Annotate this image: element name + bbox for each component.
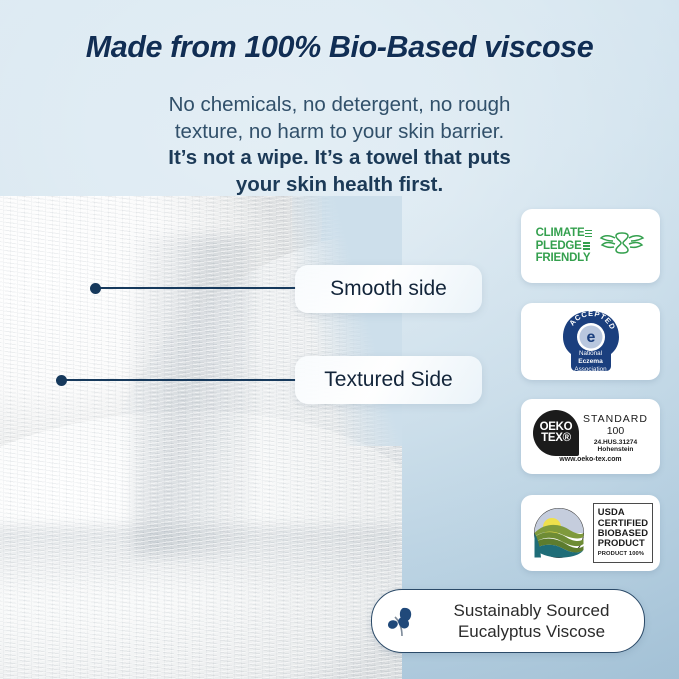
callout-textured-side-label: Textured Side — [324, 368, 452, 392]
towel-edge-fade — [292, 196, 402, 446]
eczema-line-1: National — [560, 350, 622, 358]
eucalyptus-callout: Sustainably Sourced Eucalyptus Viscose — [371, 589, 645, 653]
callout-textured-side: Textured Side — [295, 356, 482, 404]
usda-biobased-landscape-icon — [528, 507, 590, 559]
oeko-certificate-number: 24.HUS.31274 — [583, 439, 648, 446]
callout-smooth-side: Smooth side — [295, 265, 482, 313]
oeko-mark-line-2: TEX® — [541, 433, 571, 445]
badge-usda-certified-biobased: USDA CERTIFIED BIOBASED PRODUCT PRODUCT … — [521, 495, 660, 571]
climate-pledge-bars-icon — [585, 230, 592, 238]
subheading-line-2: texture, no harm to your skin barrier. — [60, 119, 619, 146]
eczema-line-2: Eczema — [560, 358, 622, 366]
eucalyptus-leaf-icon — [383, 602, 421, 640]
winged-hourglass-icon — [599, 229, 645, 263]
page-title: Made from 100% Bio-Based viscose — [0, 30, 679, 65]
subheading-line-4: your skin health first. — [60, 172, 619, 199]
eucalyptus-line-2: Eucalyptus Viscose — [427, 621, 636, 642]
usda-line-4: PRODUCT — [598, 538, 648, 548]
leader-line-textured — [66, 379, 296, 381]
badge-climate-pledge-friendly: CLIMATE PLEDGE FRIENDLY — [521, 209, 660, 283]
oeko-tex-mark-icon: OEKO TEX® — [533, 410, 579, 456]
badge-oeko-tex-standard-100: OEKO TEX® STANDARD 100 24.HUS.31274 Hohe… — [521, 399, 660, 474]
climate-pledge-bars-icon-2 — [583, 242, 590, 250]
callout-smooth-side-label: Smooth side — [330, 277, 447, 301]
eucalyptus-label: Sustainably Sourced Eucalyptus Viscose — [427, 600, 644, 642]
eucalyptus-icon-container — [377, 596, 427, 646]
eczema-accepted-seal-icon: e ACCEPTED National Eczema Association — [560, 310, 622, 374]
product-infographic: Made from 100% Bio-Based viscose No chem… — [0, 0, 679, 679]
eucalyptus-line-1: Sustainably Sourced — [427, 600, 636, 621]
oeko-standard-number: 100 — [583, 425, 648, 437]
eczema-line-3: Association — [560, 366, 622, 374]
subheading: No chemicals, no detergent, no rough tex… — [60, 92, 619, 198]
oeko-url: www.oeko-tex.com — [559, 456, 621, 463]
badge-national-eczema-association: e ACCEPTED National Eczema Association — [521, 303, 660, 380]
subheading-line-1: No chemicals, no detergent, no rough — [60, 92, 619, 119]
climate-pledge-text: CLIMATE PLEDGE FRIENDLY — [536, 227, 593, 265]
subheading-line-3: It’s not a wipe. It’s a towel that puts — [60, 145, 619, 172]
climate-pledge-line-2: PLEDGE — [536, 240, 582, 253]
climate-pledge-line-3: FRIENDLY — [536, 252, 591, 265]
svg-text:e: e — [586, 329, 595, 346]
oeko-standard-label: STANDARD — [583, 413, 648, 425]
usda-product-percentage: PRODUCT 100% — [598, 549, 648, 559]
leader-line-smooth — [100, 287, 296, 289]
climate-pledge-line-1: CLIMATE — [536, 227, 585, 240]
oeko-institute: Hohenstein — [583, 446, 648, 453]
